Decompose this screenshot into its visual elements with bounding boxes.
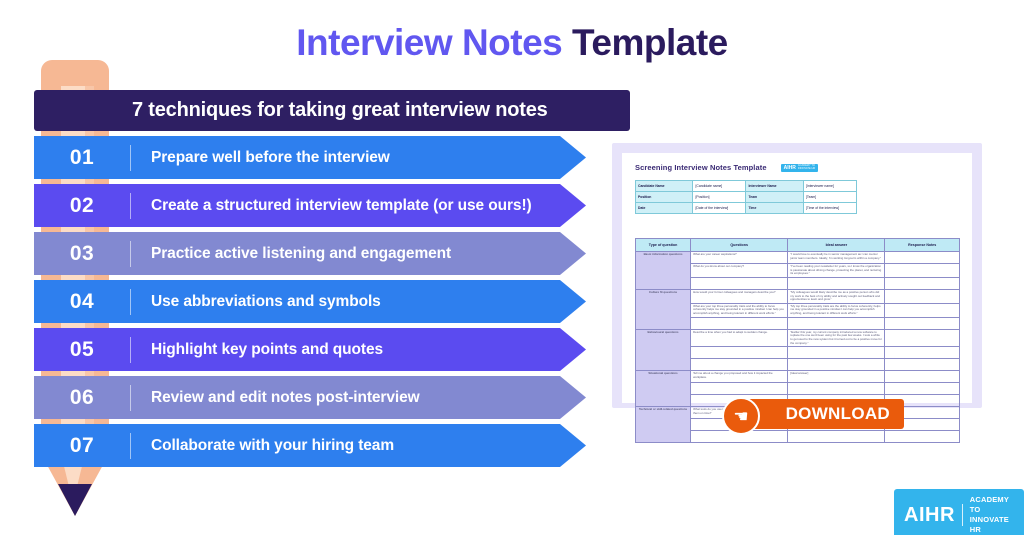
ideal-answer-text	[788, 431, 885, 443]
technique-label: Review and edit notes post-interview	[131, 389, 420, 407]
response-notes-cell[interactable]	[885, 359, 960, 371]
response-notes-cell[interactable]	[885, 329, 960, 347]
technique-label: Collaborate with your hiring team	[131, 437, 394, 455]
question-category: Culture fit questions	[636, 289, 691, 329]
ideal-answer-text	[788, 277, 885, 289]
question-text	[691, 317, 788, 329]
pencil-lead-point	[58, 484, 92, 516]
info-value: [Time of the interview]	[803, 203, 856, 214]
document-title: Screening Interview Notes Template	[635, 163, 767, 172]
ideal-answer-text	[788, 383, 885, 395]
list-header-bar: 7 techniques for taking great interview …	[34, 90, 630, 131]
info-row: Date[Date of the interview]Time[Time of …	[636, 203, 857, 214]
questions-row: Basic information questionsWhat are your…	[636, 252, 960, 264]
questions-column-header: Questions	[691, 239, 788, 252]
response-notes-cell[interactable]	[885, 303, 960, 317]
list-header-label: 7 techniques for taking great interview …	[34, 99, 548, 122]
questions-column-header: Response Notes	[885, 239, 960, 252]
ideal-answer-text: "I've been reading your newsletter for y…	[788, 264, 885, 278]
technique-label: Use abbreviations and symbols	[131, 293, 381, 311]
question-text: What are your top three personality trai…	[691, 303, 788, 317]
info-value: [Date of the interview]	[693, 203, 746, 214]
ideal-answer-text	[788, 317, 885, 329]
questions-row: Behavioural questionsDescribe a time whe…	[636, 329, 960, 347]
questions-column-header: Type of question	[636, 239, 691, 252]
document-logo-sub: ACADEMY TO INNOVATE HR	[798, 165, 815, 171]
technique-row[interactable]: 03Practice active listening and engageme…	[34, 232, 586, 275]
ideal-answer-text: "I would love to eventually be in senior…	[788, 252, 885, 264]
hand-pointer-icon[interactable]: ☚	[722, 397, 760, 435]
document-logo-main: AIHR	[784, 165, 796, 171]
technique-number: 03	[34, 242, 130, 266]
technique-row[interactable]: 04Use abbreviations and symbols	[34, 280, 586, 323]
title-dark-text: Template	[562, 22, 727, 63]
document-header: Screening Interview Notes Template AIHR …	[635, 163, 962, 172]
info-row: Candidate Name[Candidate name]Interviewe…	[636, 181, 857, 192]
technique-label: Create a structured interview template (…	[131, 197, 532, 215]
question-category: Technical or skill-related questions	[636, 407, 691, 443]
question-text: How would your former colleagues and man…	[691, 289, 788, 303]
brand-tagline: ACADEMY TO INNOVATE HR	[970, 495, 1014, 535]
info-value: [Team]	[803, 192, 856, 203]
template-document: Screening Interview Notes Template AIHR …	[622, 153, 972, 403]
download-button-label: DOWNLOAD	[786, 404, 890, 424]
technique-number: 07	[34, 434, 130, 458]
info-value: [Position]	[693, 192, 746, 203]
info-row: Position[Position]Team[Team]	[636, 192, 857, 203]
info-label: Team	[746, 192, 803, 203]
question-text: Describe a time when you had to adapt to…	[691, 329, 788, 347]
technique-number: 05	[34, 338, 130, 362]
response-notes-cell[interactable]	[885, 383, 960, 395]
technique-row[interactable]: 07Collaborate with your hiring team	[34, 424, 586, 467]
technique-list: 01Prepare well before the interview02Cre…	[34, 136, 586, 472]
technique-row[interactable]: 05Highlight key points and quotes	[34, 328, 586, 371]
info-label: Position	[636, 192, 693, 203]
infographic-canvas: Interview Notes Template 7 techniques fo…	[0, 0, 1024, 535]
response-notes-cell[interactable]	[885, 347, 960, 359]
technique-number: 06	[34, 386, 130, 410]
info-label: Time	[746, 203, 803, 214]
info-value: [Interviewer name]	[803, 181, 856, 192]
candidate-info-table: Candidate Name[Candidate name]Interviewe…	[635, 180, 857, 214]
question-category: Basic information questions	[636, 252, 691, 290]
question-text: Tell me about a change you proposed and …	[691, 371, 788, 383]
technique-label: Highlight key points and quotes	[131, 341, 383, 359]
technique-number: 02	[34, 194, 130, 218]
technique-label: Prepare well before the interview	[131, 149, 390, 167]
technique-row[interactable]: 01Prepare well before the interview	[34, 136, 586, 179]
brand-name: AIHR	[904, 504, 955, 527]
question-category: Situational questions	[636, 371, 691, 407]
response-notes-cell[interactable]	[885, 317, 960, 329]
aihr-brand-logo: AIHR ACADEMY TO INNOVATE HR	[894, 489, 1024, 535]
page-title: Interview Notes Template	[0, 22, 1024, 64]
ideal-answer-text: "My top three personality traits are the…	[788, 303, 885, 317]
question-category: Behavioural questions	[636, 329, 691, 371]
questions-row: Situational questionsTell me about a cha…	[636, 371, 960, 383]
response-notes-cell[interactable]	[885, 264, 960, 278]
ideal-answer-text	[788, 359, 885, 371]
question-text	[691, 359, 788, 371]
download-button-bar[interactable]: DOWNLOAD	[744, 399, 904, 429]
ideal-answer-text: "Earlier this year, my current company i…	[788, 329, 885, 347]
question-text: What are your career aspirations?	[691, 252, 788, 264]
question-text	[691, 347, 788, 359]
template-preview-card[interactable]: Screening Interview Notes Template AIHR …	[612, 143, 982, 408]
ideal-answer-text: "My colleagues would likely describe me …	[788, 289, 885, 303]
technique-number: 04	[34, 290, 130, 314]
response-notes-cell[interactable]	[885, 252, 960, 264]
question-text: What do you know about our company?	[691, 264, 788, 278]
technique-label: Practice active listening and engagement	[131, 245, 451, 263]
info-label: Candidate Name	[636, 181, 693, 192]
questions-row: Culture fit questionsHow would your form…	[636, 289, 960, 303]
question-text	[691, 383, 788, 395]
title-accent-text: Interview Notes	[296, 22, 562, 63]
technique-row[interactable]: 02Create a structured interview template…	[34, 184, 586, 227]
questions-column-header: Ideal answer	[788, 239, 885, 252]
document-aihr-logo: AIHR ACADEMY TO INNOVATE HR	[781, 164, 819, 172]
ideal-answer-text: [Ideal answer]	[788, 371, 885, 383]
brand-divider	[962, 504, 963, 526]
response-notes-cell[interactable]	[885, 371, 960, 383]
info-value: [Candidate name]	[693, 181, 746, 192]
info-label: Interviewer Name	[746, 181, 803, 192]
technique-number: 01	[34, 146, 130, 170]
technique-row[interactable]: 06Review and edit notes post-interview	[34, 376, 586, 419]
info-label: Date	[636, 203, 693, 214]
response-notes-cell[interactable]	[885, 289, 960, 303]
response-notes-cell[interactable]	[885, 431, 960, 443]
response-notes-cell[interactable]	[885, 277, 960, 289]
question-text	[691, 277, 788, 289]
ideal-answer-text	[788, 347, 885, 359]
